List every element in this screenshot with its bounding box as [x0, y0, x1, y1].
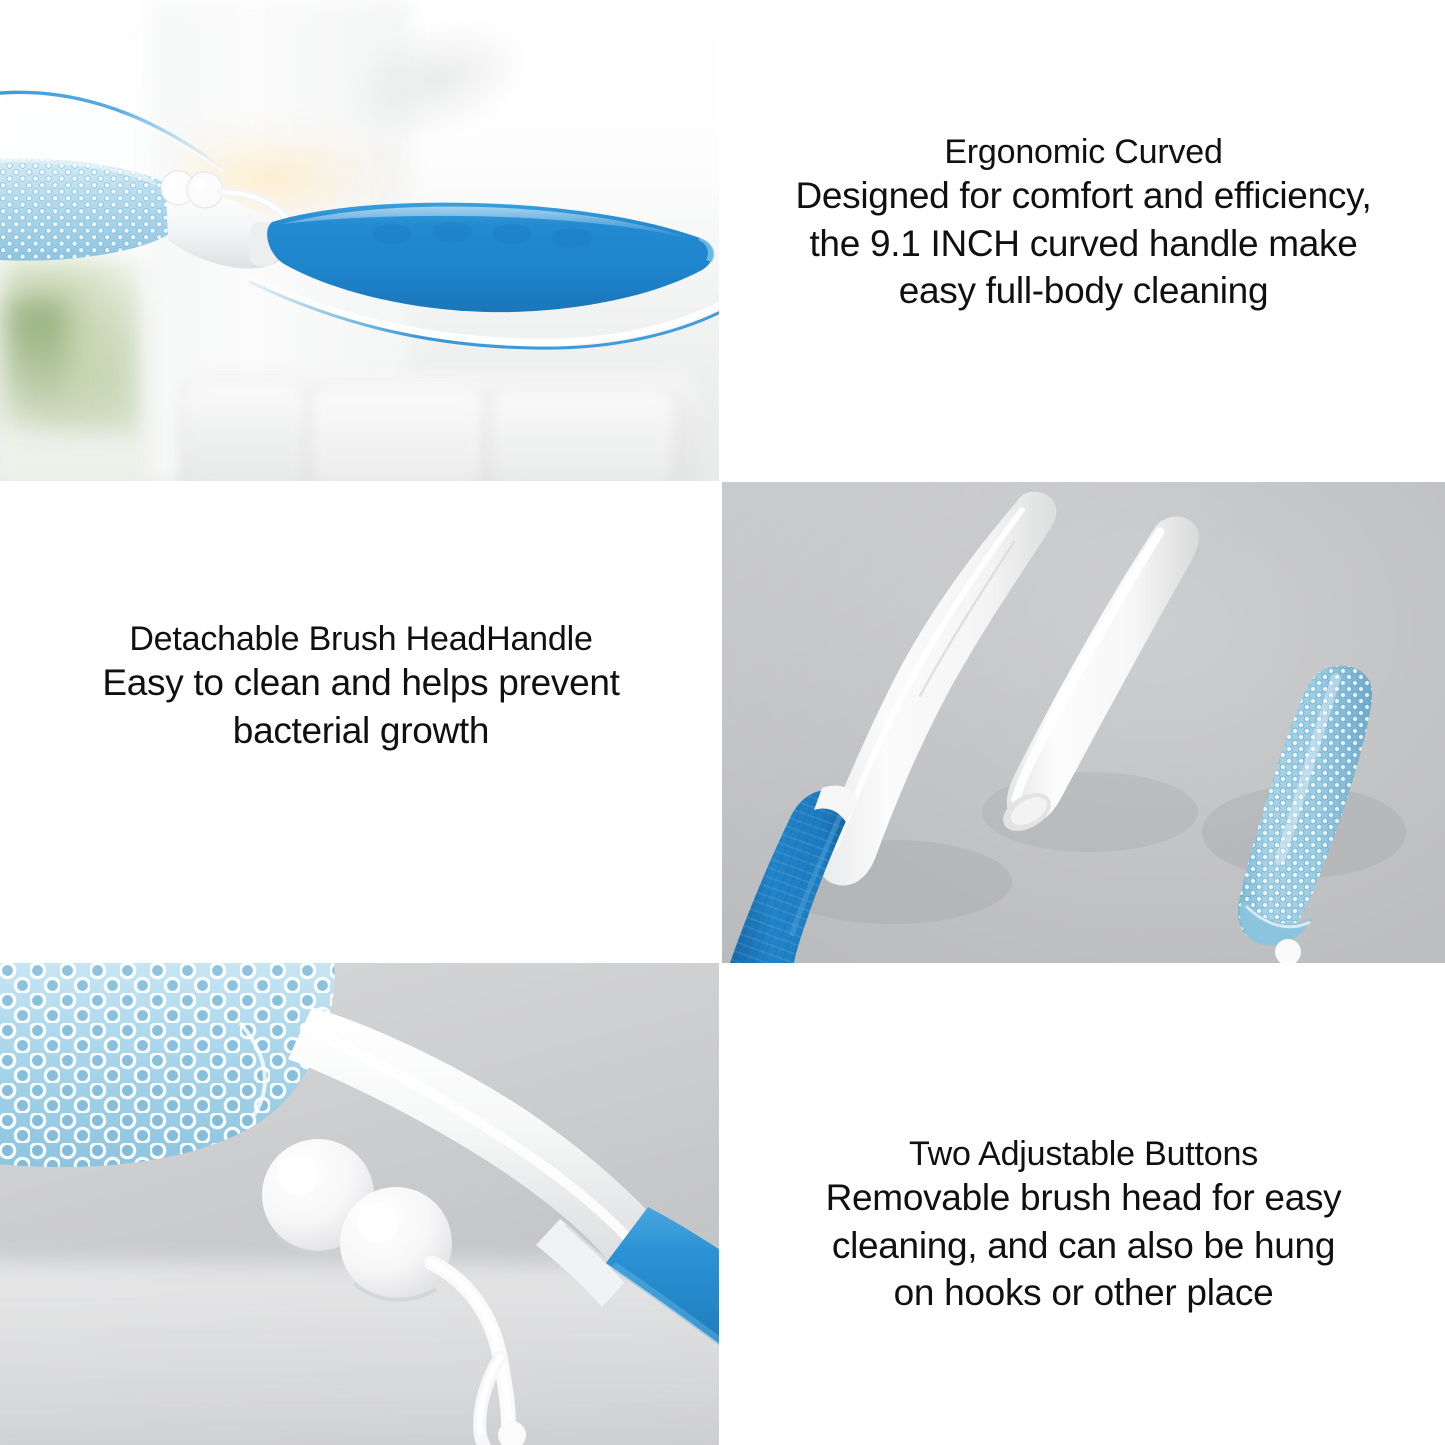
feature-body-line: Removable brush head for easy [826, 1174, 1342, 1221]
mesh-sponge-head-closeup [0, 963, 335, 1167]
feature-block-two-adjustable-buttons: Two Adjustable Buttons Removable brush h… [722, 963, 1445, 1445]
adjustable-button-lower [340, 1187, 452, 1300]
sofa-arm [186, 382, 304, 481]
feature-body-line: cleaning, and can also be hung [826, 1222, 1342, 1269]
feature-title-buttons: Two Adjustable Buttons [909, 1135, 1258, 1174]
feature-body-line: bacterial growth [102, 707, 619, 754]
mesh-sponge-head [0, 157, 179, 261]
product-infographic: Ergonomic Curved Designed for comfort an… [0, 0, 1445, 1445]
feature-body-detachable: Easy to clean and helps prevent bacteria… [102, 659, 619, 754]
accent-curve-bottom-icon [240, 262, 719, 372]
photo-hero-brush-in-room [0, 0, 719, 481]
feature-body-line: the 9.1 INCH curved handle make [795, 220, 1371, 267]
feature-body-buttons: Removable brush head for easy cleaning, … [826, 1174, 1342, 1316]
feature-body-ergonomic: Designed for comfort and efficiency, the… [795, 172, 1371, 314]
feature-title-detachable: Detachable Brush HeadHandle [129, 620, 592, 659]
buttons-closeup-illustration [0, 963, 719, 1445]
sofa-cushion-right [492, 392, 672, 481]
feature-title-ergonomic: Ergonomic Curved [944, 133, 1222, 172]
feature-block-detachable-brush-head: Detachable Brush HeadHandle Easy to clea… [0, 482, 722, 963]
hanging-cord-loop [432, 1263, 526, 1445]
photo-disassembled-parts [722, 482, 1445, 963]
parts-illustration [722, 482, 1445, 963]
photo-adjustable-buttons-closeup [0, 963, 719, 1445]
adjustable-buttons [161, 171, 223, 208]
feature-body-line: Easy to clean and helps prevent [102, 659, 619, 706]
sofa-cushion-left [312, 388, 482, 481]
feature-body-line: on hooks or other place [826, 1269, 1342, 1316]
feature-body-line: easy full-body cleaning [795, 267, 1371, 314]
feature-block-ergonomic-curved: Ergonomic Curved Designed for comfort an… [722, 0, 1445, 481]
feature-body-line: Designed for comfort and efficiency, [795, 172, 1371, 219]
